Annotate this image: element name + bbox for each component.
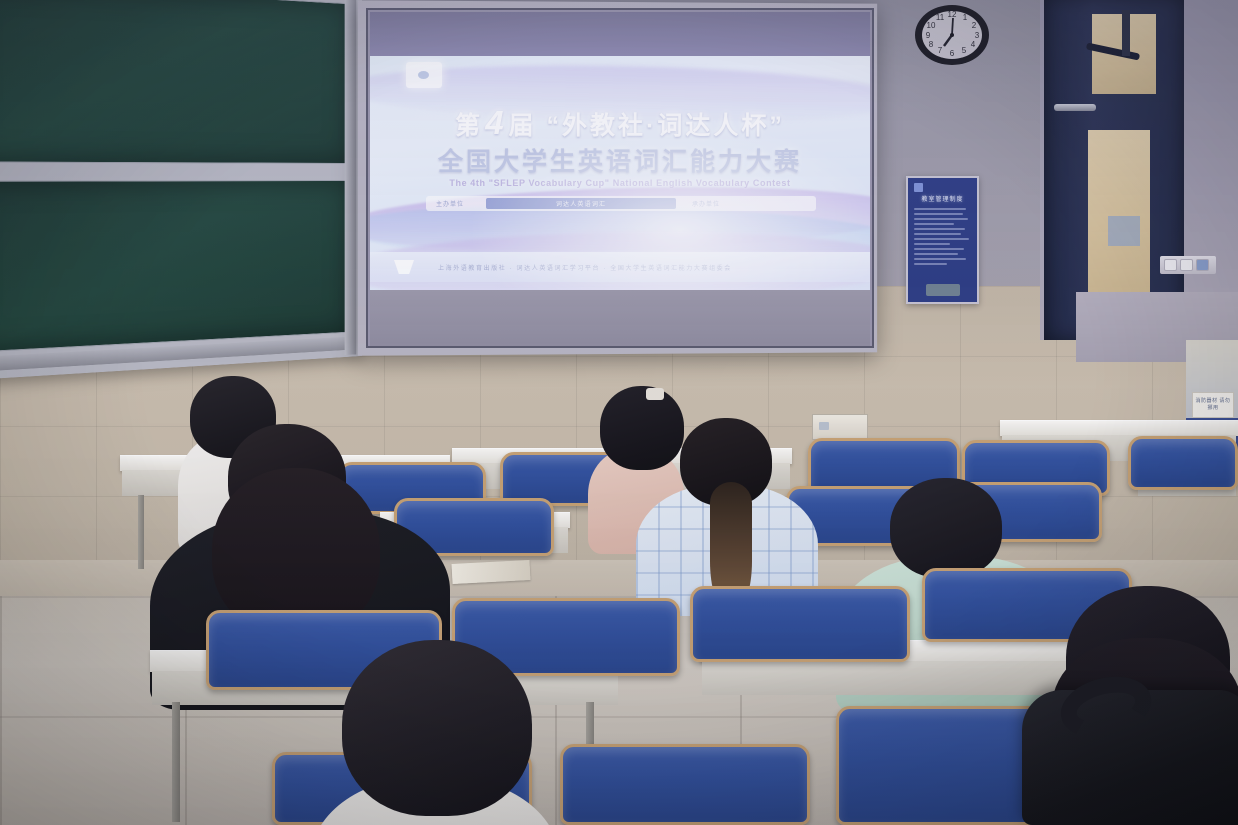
chair-front-3[interactable] — [690, 586, 910, 662]
svg-text:8: 8 — [929, 40, 934, 49]
svg-text:5: 5 — [962, 46, 967, 55]
blackboard-panel-upper — [0, 0, 350, 164]
svg-text:12: 12 — [948, 10, 957, 19]
sflep-logo-icon — [406, 62, 442, 88]
socket-outlet-1[interactable] — [1164, 259, 1177, 271]
screen-upper-band — [370, 12, 870, 58]
slide-footer-text: 上海外语教育出版社 · 词达人英语词汇学习平台 · 全国大学生英语词汇能力大赛组… — [438, 263, 732, 272]
wall-sockets-panel[interactable] — [1160, 256, 1216, 274]
student-center-pink-hair-clip — [646, 388, 664, 400]
door-notice-poster — [1108, 216, 1140, 246]
screen-lower-band — [370, 290, 870, 346]
wall-outlet-plate — [812, 414, 868, 440]
chair-foreground-2[interactable] — [560, 744, 810, 825]
svg-text:3: 3 — [975, 31, 980, 40]
svg-text:7: 7 — [938, 46, 943, 55]
svg-text:2: 2 — [972, 21, 977, 30]
notice-title: 教室管理制度 — [914, 194, 971, 203]
wall-notice-board: 教室管理制度 — [906, 176, 979, 304]
slide-badge-pill: 词达人英语词汇 — [486, 198, 676, 209]
slide-title-line2: 全国大学生英语词汇能力大赛 — [370, 142, 870, 178]
light-switch[interactable] — [1196, 259, 1209, 271]
student-right-mint-head — [890, 478, 1002, 578]
slide-footer-bar: 上海外语教育出版社 · 词达人英语词汇学习平台 · 全国大学生英语词汇能力大赛组… — [370, 252, 870, 282]
blackboard-frame-right — [345, 0, 357, 355]
door-glass-middle-inner — [1088, 130, 1150, 298]
projected-slide: 第4届 “外教社·词达人杯” 全国大学生英语词汇能力大赛 The 4th "SF… — [370, 56, 870, 290]
slide-title-edition-number: 4 — [483, 104, 508, 141]
svg-text:9: 9 — [926, 31, 931, 40]
door-handle[interactable] — [1054, 104, 1096, 111]
door-closer-bracket — [1122, 10, 1130, 56]
fire-equipment-sign: 消防器材 请勿挪用 — [1192, 392, 1234, 418]
slide-badge-right-label: 承办单位 — [692, 199, 720, 208]
classroom-photo: 第4届 “外教社·词达人杯” 全国大学生英语词汇能力大赛 The 4th "SF… — [0, 0, 1238, 825]
chair-back-5[interactable] — [1128, 436, 1238, 490]
slide-title-line1: 第4届 “外教社·词达人杯” — [370, 104, 870, 142]
blackboard — [0, 0, 362, 381]
exam-papers — [452, 560, 531, 584]
notice-official-seal — [926, 284, 960, 296]
svg-text:6: 6 — [950, 49, 955, 58]
slide-badge-row: 主办单位 词达人英语词汇 承办单位 — [426, 196, 816, 211]
svg-text:10: 10 — [927, 21, 936, 30]
svg-text:4: 4 — [971, 40, 976, 49]
student-front-dark-head — [342, 640, 532, 816]
wall-clock-icon: 1212 345 678 91011 — [913, 4, 991, 66]
svg-text:1: 1 — [963, 13, 968, 22]
student-center-pink-head — [600, 386, 684, 470]
notice-emblem-icon — [914, 183, 923, 192]
svg-text:11: 11 — [936, 13, 945, 22]
slide-footer-mark-icon — [394, 260, 414, 274]
slide-badge-left-label: 主办单位 — [436, 199, 464, 208]
slide-subtitle-english: The 4th "SFLEP Vocabulary Cup" National … — [370, 178, 870, 188]
slide-title-suffix: 届 “外教社·词达人杯” — [509, 112, 785, 140]
blackboard-panel-lower — [0, 180, 350, 353]
socket-outlet-2[interactable] — [1180, 259, 1193, 271]
notice-body — [914, 208, 971, 265]
slide-title-prefix: 第 — [455, 112, 483, 140]
